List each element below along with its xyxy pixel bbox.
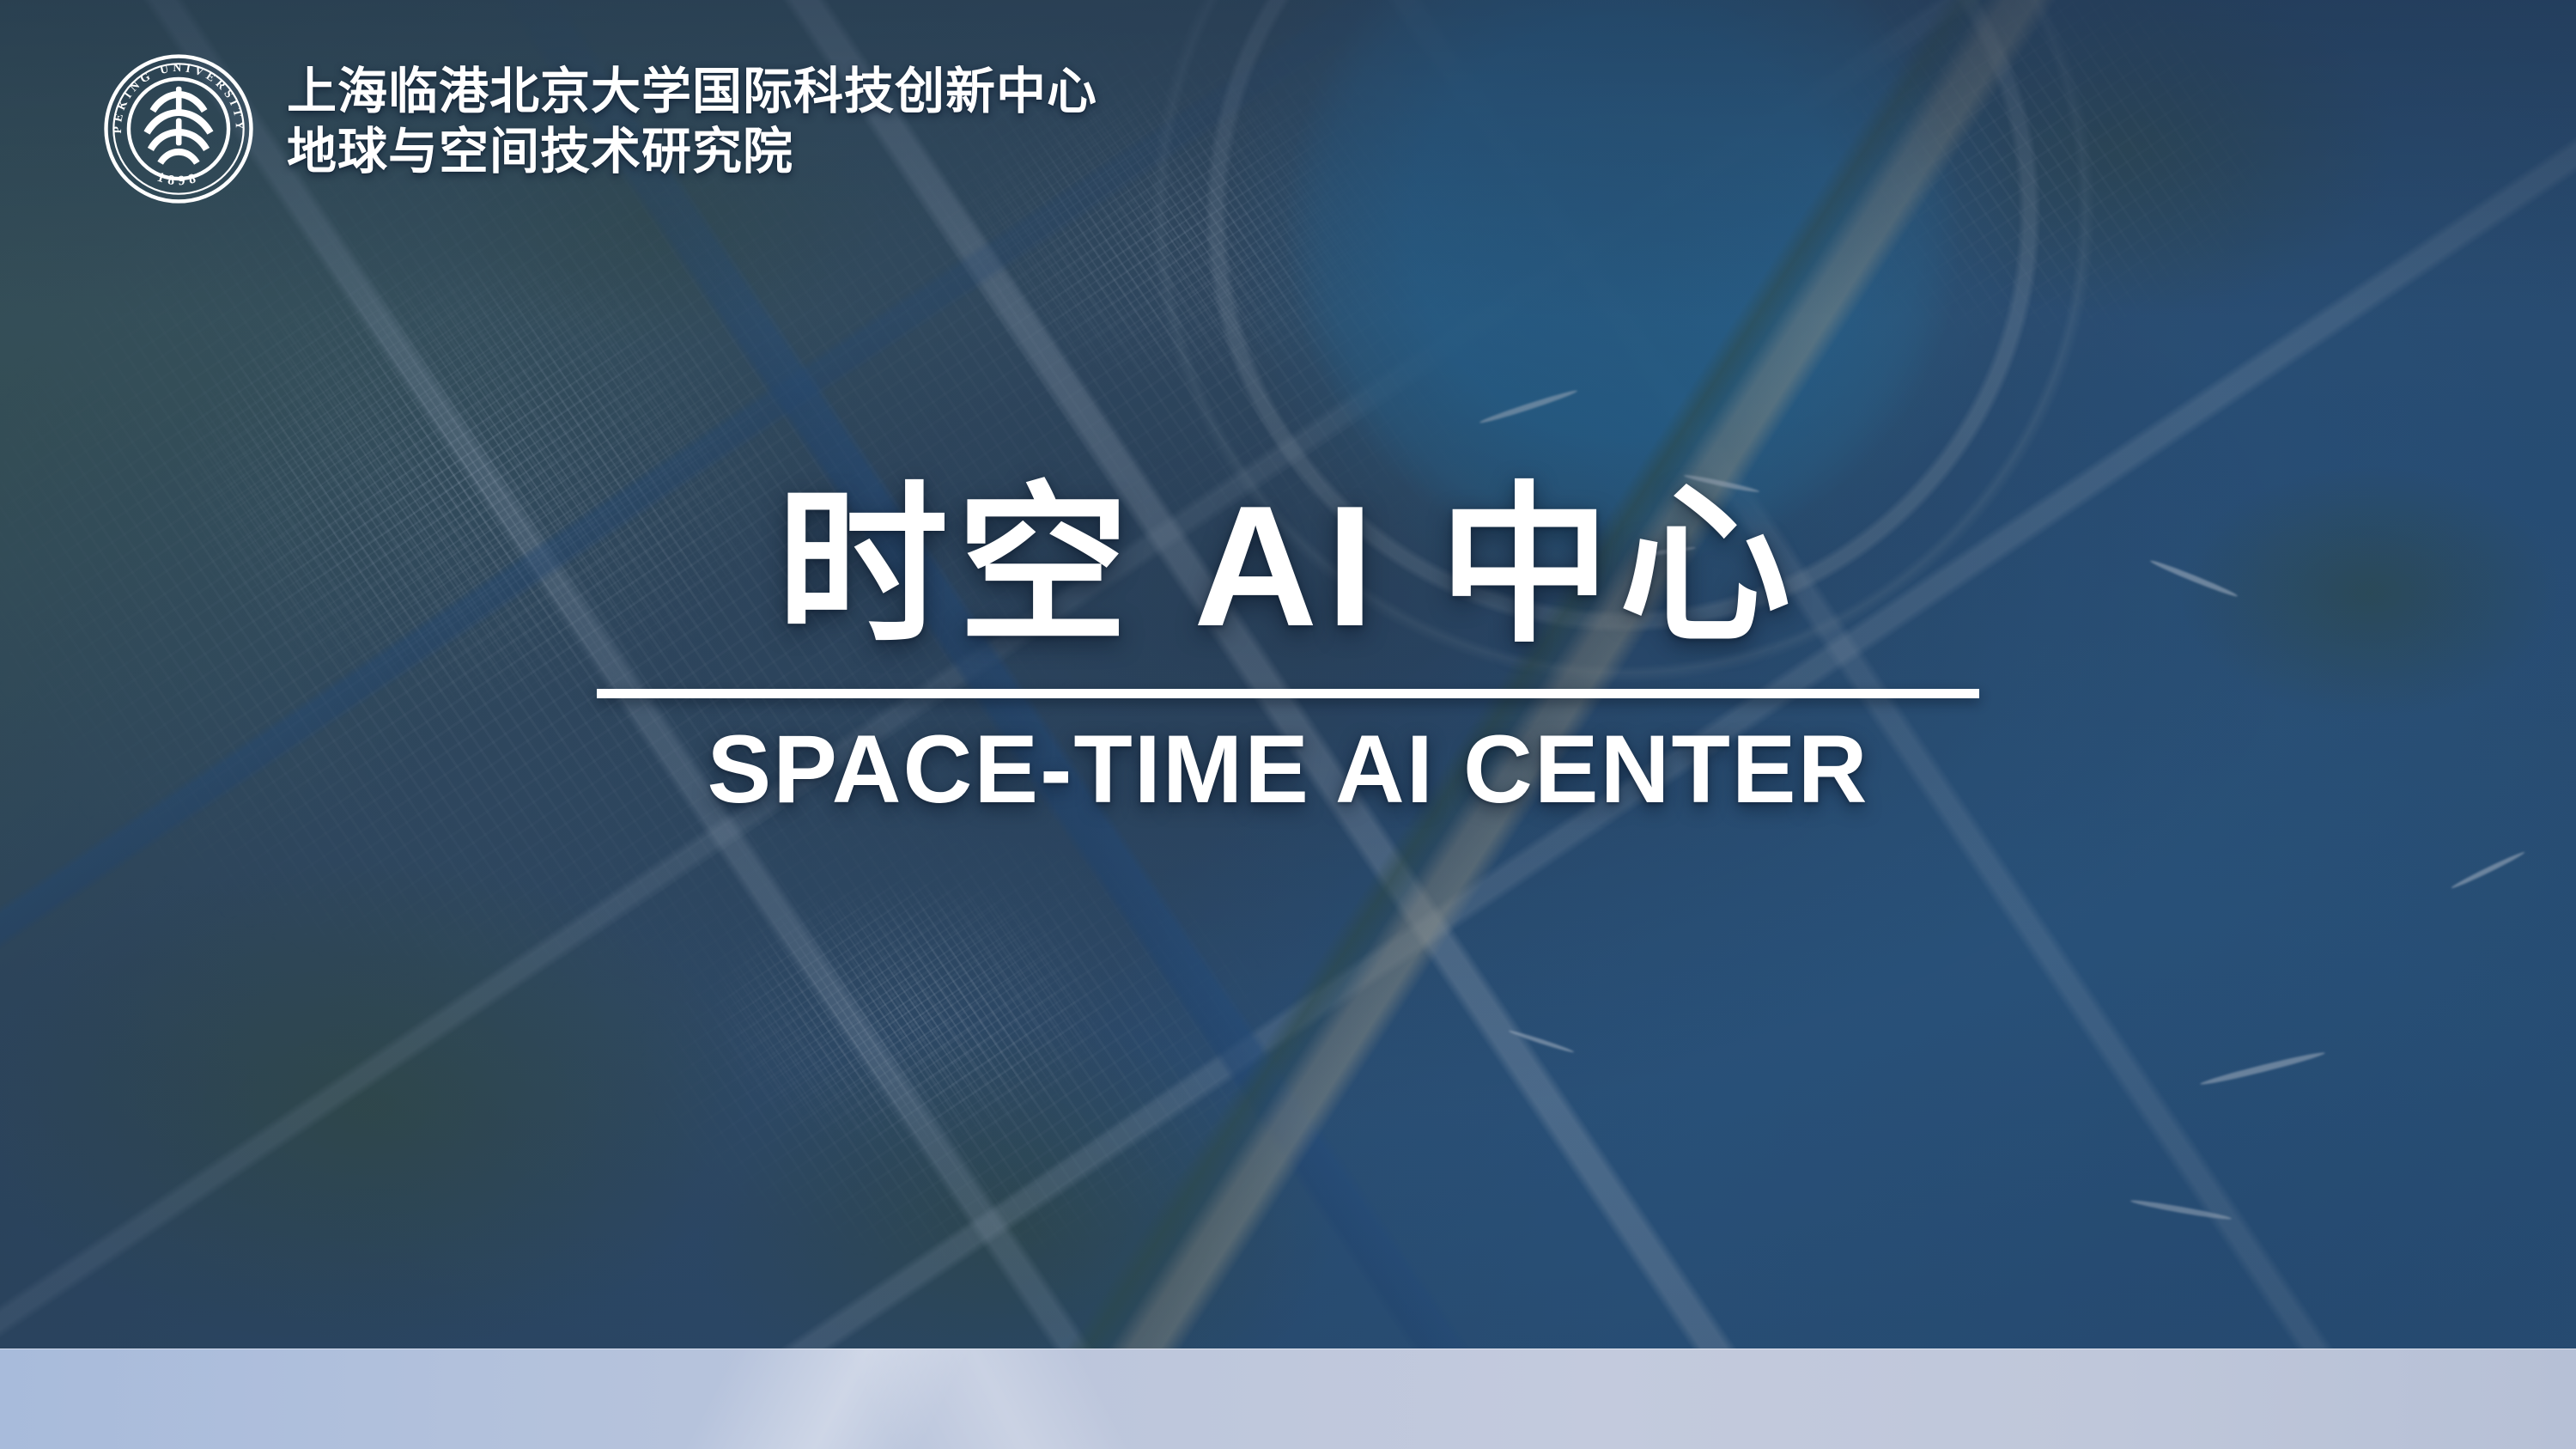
subtitle: SPACE-TIME AI CENTER bbox=[708, 719, 1869, 820]
svg-text:1898: 1898 bbox=[155, 170, 202, 189]
title-block: 时空 AI 中心 SPACE-TIME AI CENTER bbox=[0, 481, 2576, 820]
main-title: 时空 AI 中心 bbox=[776, 481, 1799, 653]
organization-names: 上海临港北京大学国际科技创新中心 地球与空间技术研究院 bbox=[287, 53, 1097, 181]
header: PEKING UNIVERSITY 1898 上海临港北京大学国际科技创新中心 … bbox=[103, 53, 1097, 204]
peking-university-seal-icon: PEKING UNIVERSITY 1898 bbox=[103, 53, 254, 204]
org-name-line-1: 上海临港北京大学国际科技创新中心 bbox=[287, 62, 1097, 122]
title-slide: PEKING UNIVERSITY 1898 上海临港北京大学国际科技创新中心 … bbox=[0, 0, 2576, 1449]
title-divider bbox=[597, 689, 1979, 698]
org-name-line-2: 地球与空间技术研究院 bbox=[287, 122, 1097, 182]
bottom-band bbox=[0, 1349, 2576, 1449]
